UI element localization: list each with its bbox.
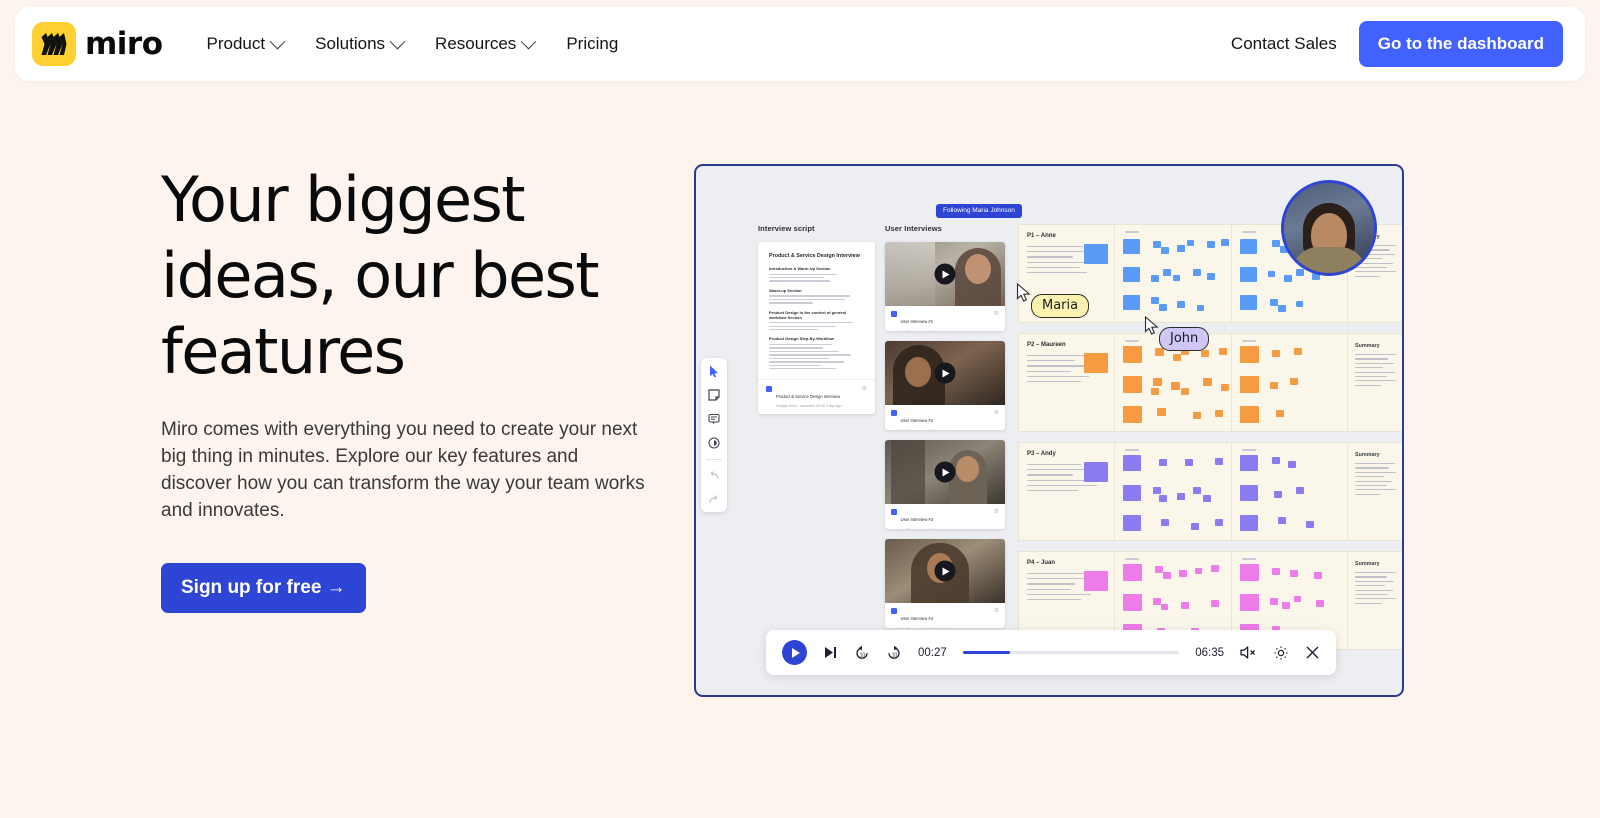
document-footer-title: Product & Service Design Interview: [776, 394, 840, 399]
video-meta: YouTube · uploaded 1 minute ago: [901, 330, 955, 331]
comment-tool-icon[interactable]: [705, 411, 723, 427]
document-footer-meta: Google Docs · uploaded 15:46 2 day ago: [776, 404, 842, 408]
video-meta: YouTube · uploaded 1 minute ago: [901, 627, 955, 628]
sticky-cluster[interactable]: [1231, 334, 1348, 431]
video-title: User Interview #2: [901, 418, 934, 423]
cursor-label-john: John: [1159, 327, 1209, 351]
video-card[interactable]: User Interview #2 YouTube · uploaded 1 m…: [885, 341, 1005, 430]
video-card[interactable]: User Interview #1 YouTube · uploaded 1 m…: [885, 242, 1005, 331]
participant-label: P4 – Juan: [1027, 560, 1107, 566]
document-section-heading: Product Design Step-By-Workflow: [769, 336, 864, 341]
document-section-heading: Introduction & Warm-Up Section: [769, 266, 864, 271]
cursor-arrow-icon: [1144, 316, 1161, 336]
total-time: 06:35: [1195, 647, 1224, 659]
video-meta: YouTube · uploaded 1 minute ago: [901, 528, 955, 529]
gear-icon[interactable]: ⚙: [994, 310, 999, 317]
gear-icon[interactable]: ⚙: [994, 508, 999, 515]
redo-tool-icon[interactable]: [705, 492, 723, 508]
sticky-note[interactable]: [1084, 571, 1108, 591]
primary-nav: Product Solutions Resources Pricing: [191, 26, 635, 62]
video-file-icon: [891, 608, 897, 614]
document-title: Product & Service Design Interview: [769, 253, 864, 259]
cursor-label-maria: Maria: [1031, 294, 1089, 318]
page-title: Your biggest ideas, our best features: [161, 162, 661, 390]
close-icon[interactable]: [1305, 645, 1320, 660]
gear-icon[interactable]: ⚙: [994, 409, 999, 416]
interview-script-column: Interview script Product & Service Desig…: [758, 224, 875, 414]
video-card-meta: User Interview #3 YouTube · uploaded 1 m…: [885, 504, 1005, 529]
nav-item-product[interactable]: Product: [191, 26, 300, 62]
video-thumbnail: [885, 440, 1005, 504]
video-card-meta: User Interview #4 YouTube · uploaded 1 m…: [885, 603, 1005, 628]
template-tool-icon[interactable]: [705, 435, 723, 451]
nav-actions: Contact Sales Go to the dashboard: [1231, 21, 1563, 67]
nav-item-resources[interactable]: Resources: [419, 26, 550, 62]
volume-mute-icon[interactable]: [1240, 645, 1257, 660]
document-section-heading: Warm-up Section: [769, 288, 864, 293]
video-card[interactable]: User Interview #3 YouTube · uploaded 1 m…: [885, 440, 1005, 529]
video-file-icon: [891, 311, 897, 317]
video-card-meta: User Interview #1 YouTube · uploaded 1 m…: [885, 306, 1005, 331]
miro-logo-icon: [32, 22, 76, 66]
video-thumbnail: [885, 539, 1005, 603]
play-icon[interactable]: [935, 363, 956, 384]
cursor-tool-icon[interactable]: [705, 363, 723, 379]
user-interviews-column: User Interviews User Interview #1 YouTub…: [885, 224, 1005, 638]
svg-text:10: 10: [860, 652, 866, 658]
signup-for-free-button[interactable]: Sign up for free →: [161, 563, 366, 613]
sticky-cluster[interactable]: [1231, 443, 1348, 540]
gear-icon[interactable]: ⚙: [994, 607, 999, 614]
nav-item-product-label: Product: [207, 34, 266, 54]
video-title: User Interview #4: [901, 616, 934, 621]
gear-icon[interactable]: ⚙: [862, 385, 867, 392]
progress-scrubber[interactable]: [963, 651, 1179, 654]
sticky-note[interactable]: [1084, 353, 1108, 373]
contact-sales-link[interactable]: Contact Sales: [1231, 34, 1337, 54]
cursor-arrow-icon: [1016, 283, 1033, 303]
sticky-cluster[interactable]: [1114, 225, 1231, 322]
sticky-note-tool-icon[interactable]: [705, 387, 723, 403]
sticky-note[interactable]: [1084, 244, 1108, 264]
undo-tool-icon[interactable]: [705, 468, 723, 484]
summary-title: Summary: [1355, 561, 1400, 567]
board-toolbar: [701, 358, 727, 512]
summary-title: Summary: [1355, 343, 1400, 349]
sticky-note[interactable]: [1084, 462, 1108, 482]
video-meta: YouTube · uploaded 1 minute ago: [901, 429, 955, 430]
sticky-cluster[interactable]: [1114, 443, 1231, 540]
participant-label: P1 – Anne: [1027, 233, 1107, 239]
chevron-down-icon: [270, 33, 286, 49]
document-section-heading: Product Design in the context of general…: [769, 310, 864, 320]
nav-item-solutions-label: Solutions: [315, 34, 385, 54]
brand-wordmark: miro: [85, 26, 163, 62]
video-file-icon: [891, 509, 897, 515]
top-navigation-bar: miro Product Solutions Resources Pricing…: [15, 7, 1585, 81]
miro-board-preview: Interview script Product & Service Desig…: [694, 164, 1404, 697]
chevron-down-icon: [521, 33, 537, 49]
avatar[interactable]: [1281, 180, 1377, 276]
video-thumbnail: [885, 242, 1005, 306]
document-card-footer: Product & Service Design Interview Googl…: [758, 379, 875, 415]
video-file-icon: [891, 410, 897, 416]
gear-icon[interactable]: [1273, 645, 1289, 661]
summary-title: Summary: [1355, 452, 1400, 458]
nav-item-resources-label: Resources: [435, 34, 516, 54]
participant-info: P3 – Andy: [1019, 443, 1114, 540]
participant-label: P2 – Maureen: [1027, 342, 1107, 348]
summary-cell[interactable]: Summary: [1347, 334, 1404, 431]
chevron-down-icon: [390, 33, 406, 49]
interview-script-label: Interview script: [758, 224, 875, 233]
participant-row[interactable]: P3 – Andy: [1018, 442, 1404, 541]
progress-fill: [963, 651, 1011, 654]
video-title: User Interview #1: [901, 319, 934, 324]
toolbar-divider: [706, 459, 722, 460]
document-file-icon: [766, 386, 772, 392]
participant-info: P2 – Maureen: [1019, 334, 1114, 431]
skip-next-icon[interactable]: [823, 645, 838, 660]
play-icon[interactable]: [935, 561, 956, 582]
nav-item-solutions[interactable]: Solutions: [299, 26, 419, 62]
svg-text:10: 10: [892, 652, 898, 658]
summary-cell[interactable]: Summary: [1347, 552, 1404, 649]
participant-label: P3 – Andy: [1027, 451, 1107, 457]
go-to-dashboard-button[interactable]: Go to the dashboard: [1359, 21, 1563, 67]
current-time: 00:27: [918, 647, 947, 659]
hero-description: Miro comes with everything you need to c…: [161, 416, 651, 524]
nav-item-pricing[interactable]: Pricing: [550, 26, 634, 62]
video-title: User Interview #3: [901, 517, 934, 522]
collaborator-cursor-maria: Maria: [1016, 283, 1089, 318]
nav-item-pricing-label: Pricing: [566, 34, 618, 54]
video-card-meta: User Interview #2 YouTube · uploaded 1 m…: [885, 405, 1005, 430]
collaborator-cursor-john: John: [1144, 316, 1209, 351]
video-card[interactable]: User Interview #4 YouTube · uploaded 1 m…: [885, 539, 1005, 628]
rewind-10-icon[interactable]: 10: [854, 645, 870, 661]
participant-row[interactable]: P2 – Maureen: [1018, 333, 1404, 432]
video-thumbnail: [885, 341, 1005, 405]
forward-10-icon[interactable]: 10: [886, 645, 902, 661]
user-interviews-label: User Interviews: [885, 224, 1005, 233]
summary-cell[interactable]: Summary: [1347, 443, 1404, 540]
video-player-controls: 10 10 00:27 06:35: [766, 630, 1336, 675]
play-icon[interactable]: [935, 264, 956, 285]
play-icon[interactable]: [935, 462, 956, 483]
hero-text-block: Your biggest ideas, our best features Mi…: [161, 162, 661, 613]
play-button[interactable]: [782, 640, 807, 665]
interview-script-document-card[interactable]: Product & Service Design Interview Intro…: [758, 242, 875, 414]
miro-brand-logo[interactable]: miro: [32, 22, 163, 66]
following-status-badge: Following Maria Johnson: [936, 204, 1022, 218]
